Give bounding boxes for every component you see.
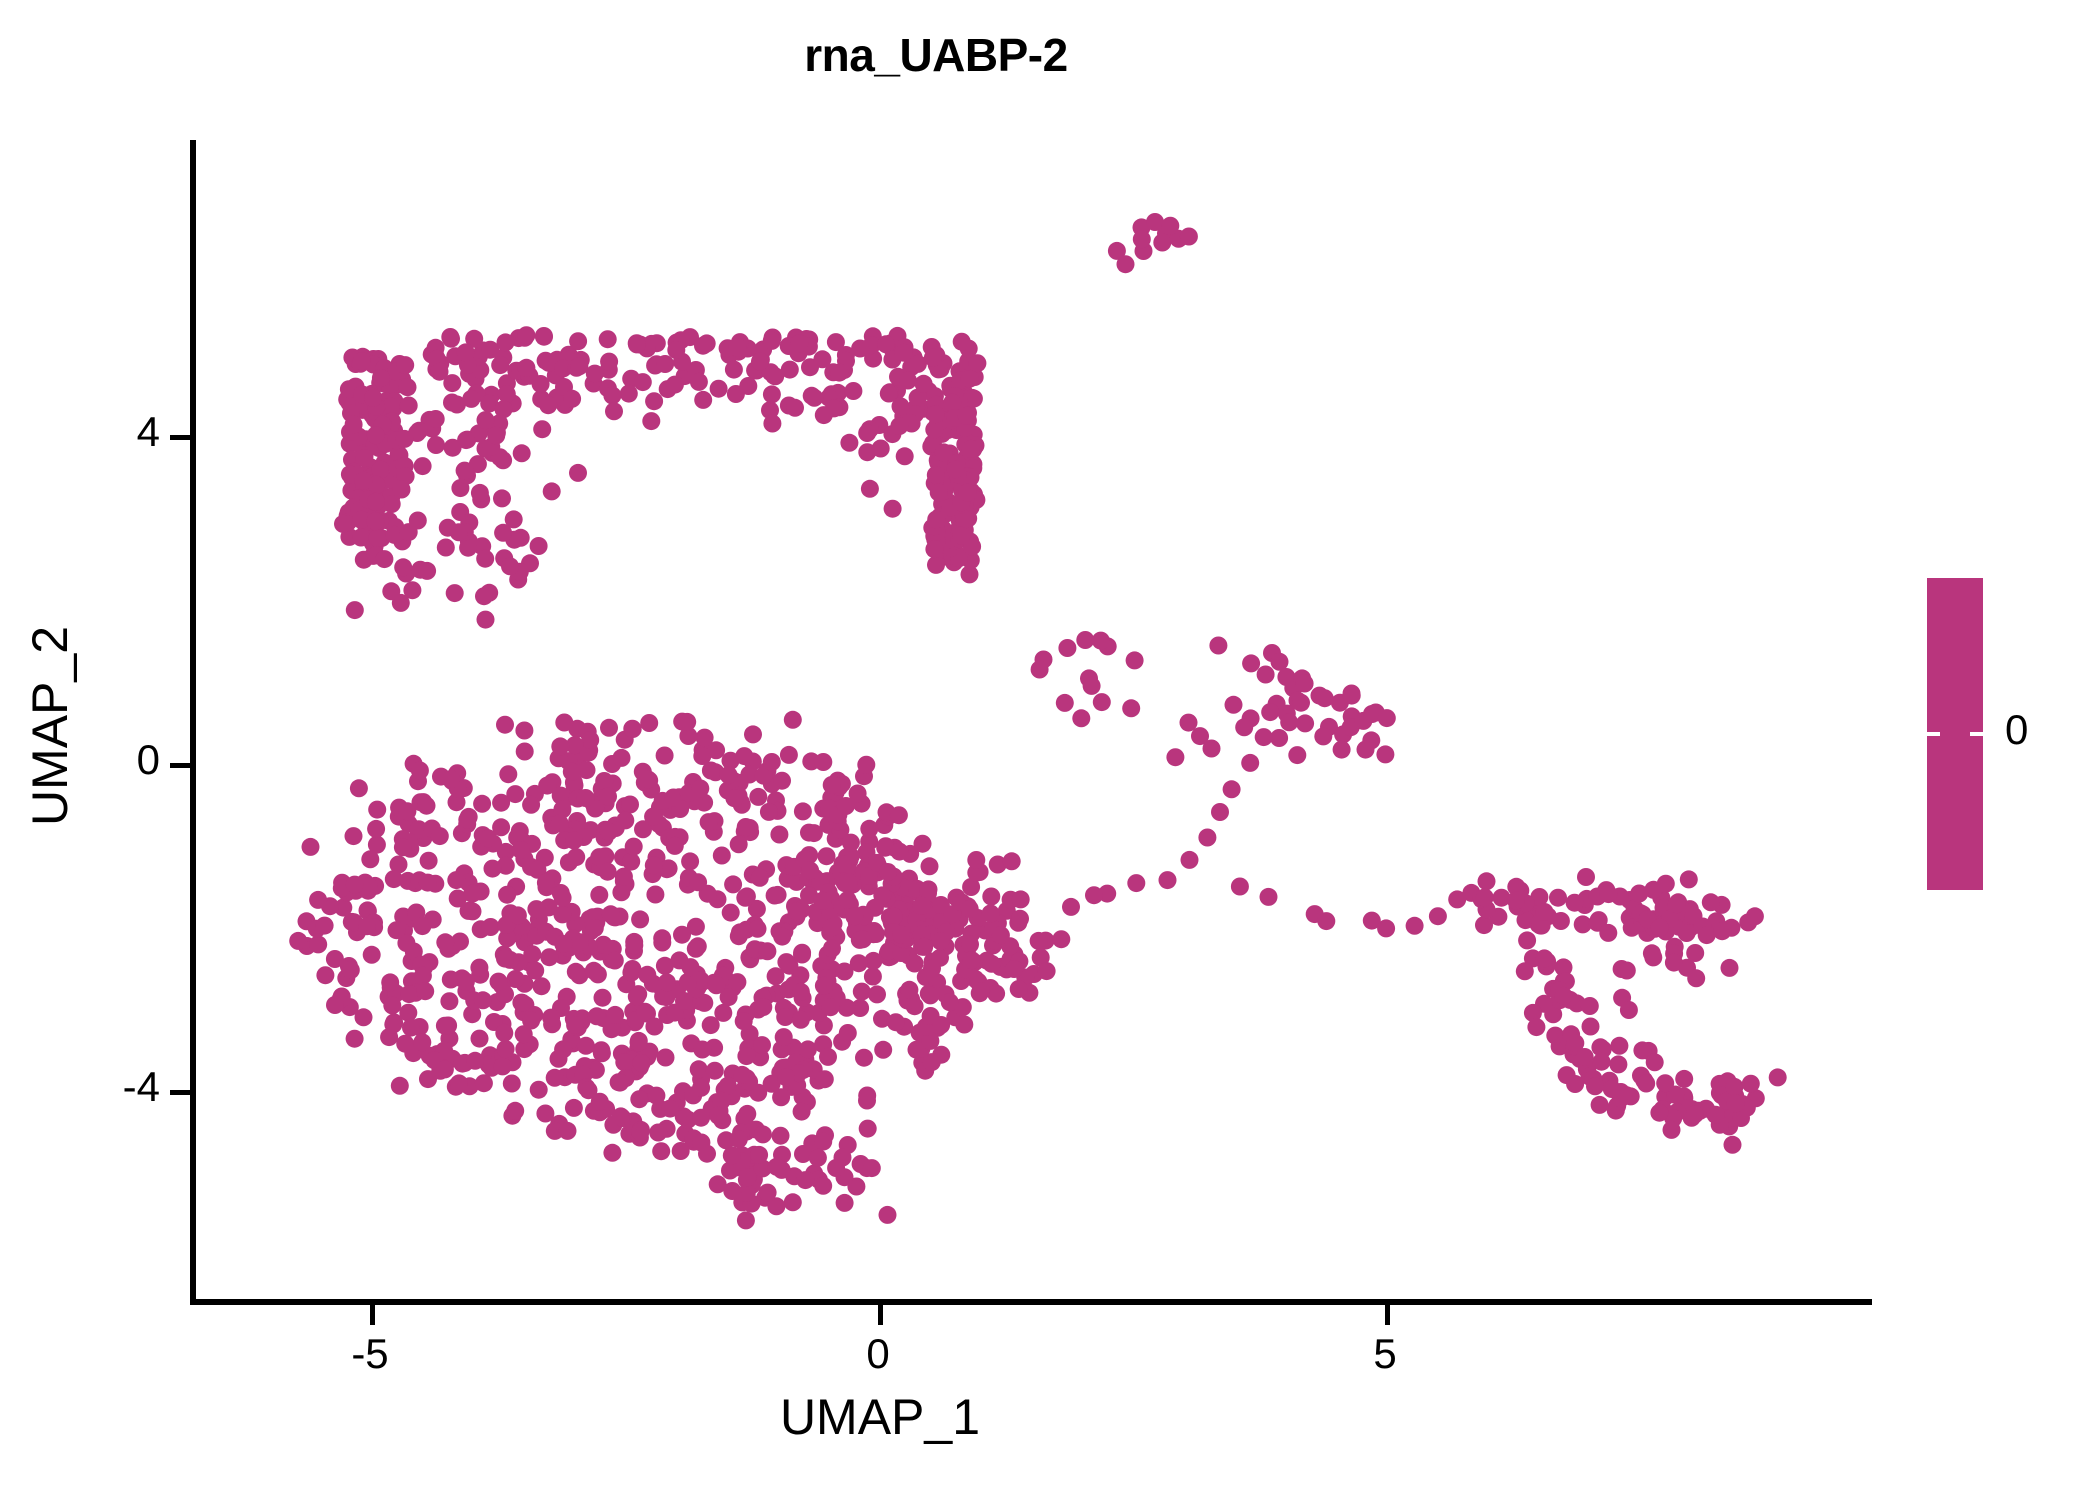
x-tick-label-5: 5 (1325, 1330, 1445, 1378)
colorbar-tick-left (1927, 732, 1940, 736)
legend-colorbar: 0 (1927, 578, 2097, 890)
y-tick-mark-neg4 (170, 1090, 190, 1095)
x-axis-line (190, 1299, 1872, 1305)
x-tick-mark-5 (1385, 1305, 1390, 1325)
colorbar-tick-right (1970, 732, 1983, 736)
y-tick-mark-0 (170, 763, 190, 768)
scatter-layer (193, 140, 1872, 1302)
x-tick-label-neg5: -5 (310, 1330, 430, 1378)
y-axis-title: UMAP_2 (21, 499, 79, 953)
page-title: rna_UABP-2 (0, 28, 1872, 82)
x-tick-label-0: 0 (818, 1330, 938, 1378)
y-tick-label-4: 4 (0, 408, 160, 456)
umap-feature-plot: rna_UABP-2 -5 0 5 4 0 -4 UMAP_1 UMAP_2 0 (0, 0, 2100, 1500)
y-tick-mark-4 (170, 435, 190, 440)
y-axis-line (190, 140, 196, 1305)
y-tick-label-neg4: -4 (0, 1063, 160, 1111)
scatter-points (289, 213, 1787, 1229)
legend-tick-label: 0 (2005, 706, 2028, 754)
x-tick-mark-neg5 (370, 1305, 375, 1325)
plot-panel (193, 140, 1872, 1302)
x-axis-title: UMAP_1 (653, 1388, 1107, 1446)
x-tick-mark-0 (878, 1305, 883, 1325)
